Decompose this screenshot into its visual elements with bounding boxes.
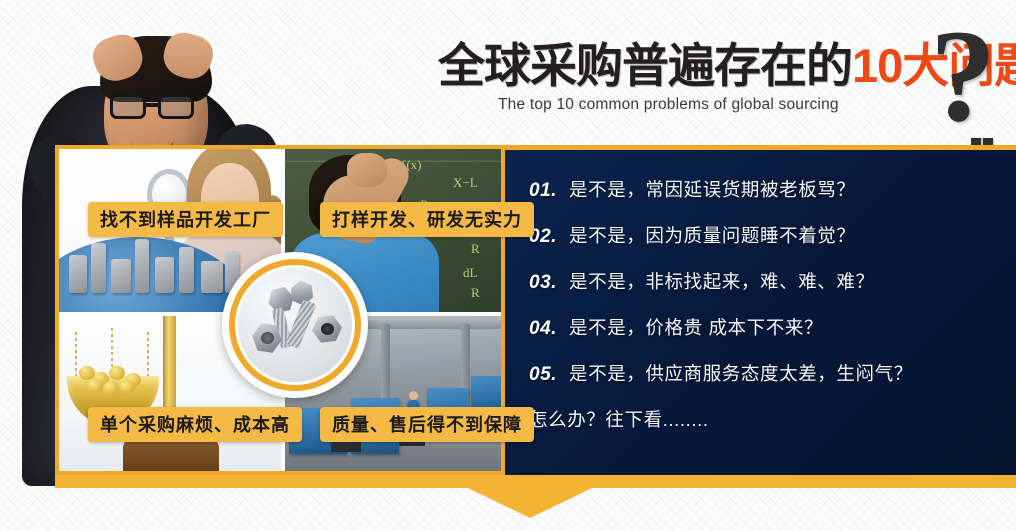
eyeglasses-icon bbox=[110, 94, 202, 120]
list-item: 02. 是不是，因为质量问题睡不着觉？ bbox=[529, 222, 1002, 248]
bolts-photo bbox=[238, 268, 352, 382]
list-item-text: 是不是，价格贵 成本下不来？ bbox=[569, 314, 823, 340]
lens-right bbox=[158, 94, 194, 119]
bolts-circle-inset bbox=[222, 252, 368, 398]
gold-nuggets bbox=[79, 366, 147, 392]
problems-list-panel: 01. 是不是，常因延误货期被老板骂？ 02. 是不是，因为质量问题睡不着觉？ … bbox=[505, 145, 1016, 475]
list-item: 04. 是不是，价格贵 成本下不来？ bbox=[529, 314, 1002, 340]
list-item-number: 05. bbox=[529, 364, 569, 386]
support-column bbox=[381, 324, 390, 398]
scale-chain bbox=[147, 332, 149, 376]
part bbox=[155, 257, 174, 293]
question-mark-icon: ? bbox=[930, 10, 996, 142]
list-item-number: 03. bbox=[529, 272, 569, 294]
list-item: 05. 是不是，供应商服务态度太差，生闷气？ bbox=[529, 360, 1002, 386]
title-primary: 全球采购普遍存在的 bbox=[438, 39, 852, 92]
list-item-number: 04. bbox=[529, 318, 569, 340]
problems-list: 01. 是不是，常因延误货期被老板骂？ 02. 是不是，因为质量问题睡不着觉？ … bbox=[529, 176, 1002, 432]
glasses-bridge bbox=[146, 103, 160, 107]
list-item-text: 是不是，因为质量问题睡不着觉？ bbox=[569, 222, 856, 248]
list-item-text: 是不是，常因延误货期被老板骂？ bbox=[569, 176, 856, 202]
part bbox=[91, 243, 106, 293]
scale-chain bbox=[75, 332, 77, 376]
formula-text: dL bbox=[463, 265, 477, 281]
part bbox=[179, 247, 194, 293]
part bbox=[111, 259, 131, 293]
caption-no-rd-capability: 打样开发、研发无实力 bbox=[320, 202, 534, 237]
list-item-number: 01. bbox=[529, 180, 569, 202]
nugget bbox=[109, 366, 125, 380]
list-item-text: 是不是，非标找起来，难、难、难？ bbox=[569, 268, 875, 294]
caption-single-purchase-cost: 单个采购麻烦、成本高 bbox=[88, 407, 302, 442]
caption-no-sample-factory: 找不到样品开发工厂 bbox=[88, 202, 283, 237]
hand-scratching-head bbox=[347, 153, 387, 187]
machine-parts-cluster bbox=[65, 233, 245, 295]
nugget bbox=[119, 380, 135, 394]
part bbox=[135, 239, 149, 293]
nut-hole bbox=[321, 323, 334, 335]
nugget bbox=[87, 379, 103, 393]
wooden-base bbox=[123, 438, 219, 475]
formula-text: R bbox=[471, 285, 480, 301]
nugget bbox=[103, 381, 119, 395]
lens-left bbox=[110, 94, 146, 119]
caption-no-quality-warranty: 质量、售后得不到保障 bbox=[320, 407, 534, 442]
nut-hole bbox=[261, 332, 274, 344]
bottom-accent-bar bbox=[55, 475, 1016, 488]
list-item: 03. 是不是，非标找起来，难、难、难？ bbox=[529, 268, 1002, 294]
page-subtitle: The top 10 common problems of global sou… bbox=[498, 96, 839, 114]
support-column bbox=[461, 324, 470, 398]
banner-header: 全球采购普遍存在的10大问题 The top 10 common problem… bbox=[430, 34, 1016, 138]
list-item-number: 02. bbox=[529, 226, 569, 248]
list-item: 01. 是不是，常因延误货期被老板骂？ bbox=[529, 176, 1002, 202]
formula-text: X−L bbox=[453, 175, 478, 191]
panel-footer-text: 怎么办？往下看........ bbox=[529, 406, 1002, 432]
list-item-text: 是不是，供应商服务态度太差，生闷气？ bbox=[569, 360, 913, 386]
banner-stage: 全球采购普遍存在的10大问题 The top 10 common problem… bbox=[0, 0, 1016, 531]
part bbox=[201, 261, 223, 293]
formula-text: R bbox=[471, 241, 480, 257]
part bbox=[69, 255, 87, 293]
scroll-down-arrow-icon bbox=[468, 488, 592, 518]
